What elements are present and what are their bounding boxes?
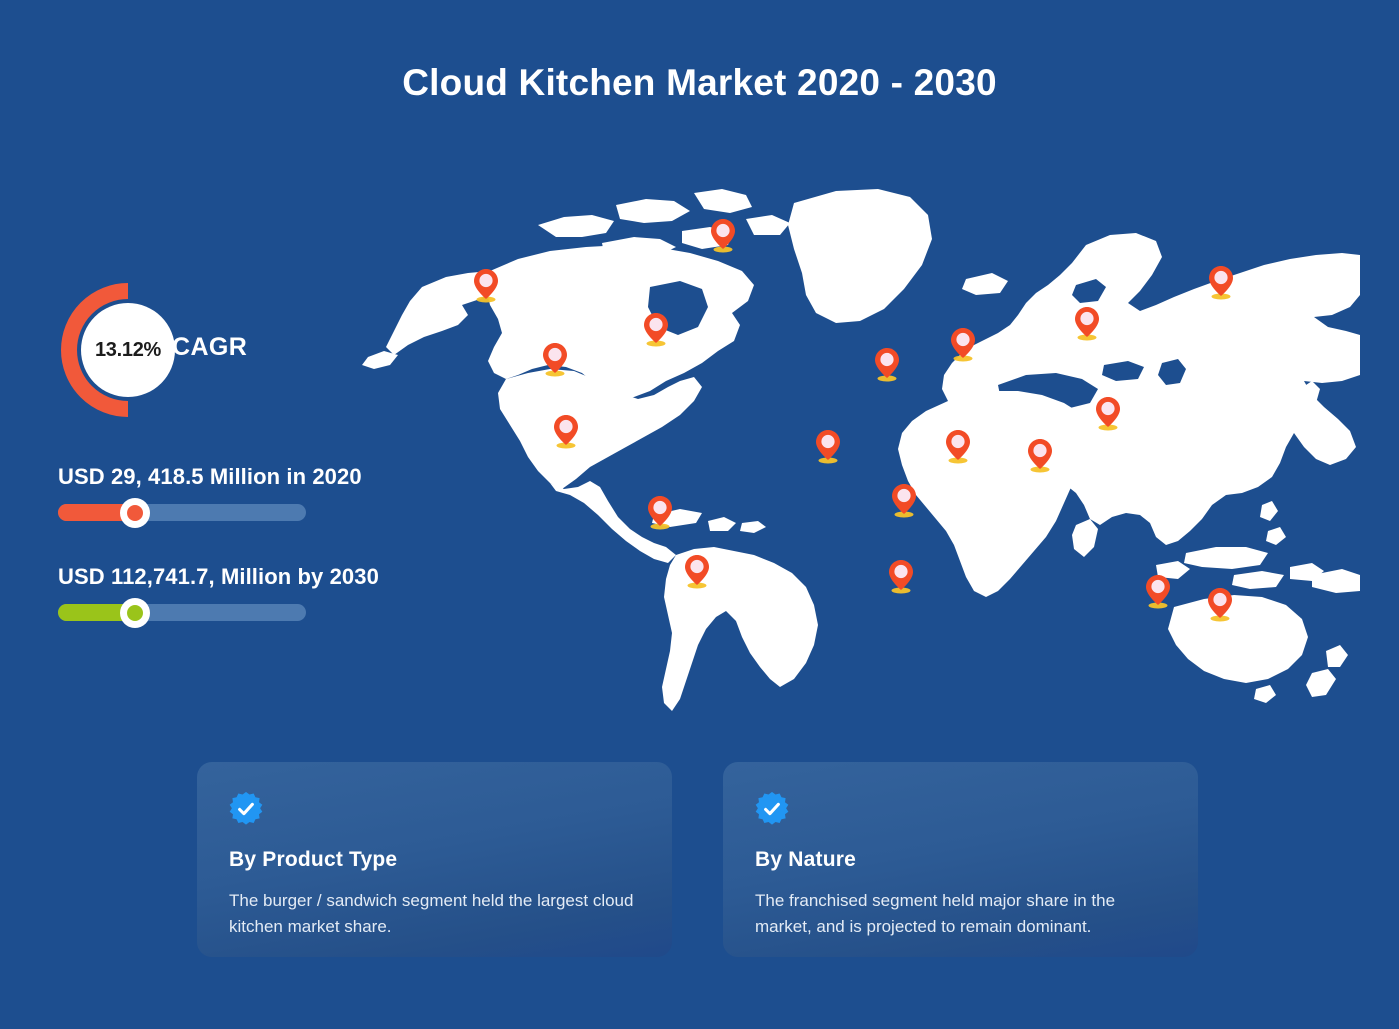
pin-greenland-icon[interactable] [708,217,738,253]
pin-alaska-icon[interactable] [471,267,501,303]
pin-brazil-south-icon[interactable] [682,553,712,589]
market-value-slider-2030[interactable] [58,604,306,621]
pin-central-africa-icon[interactable] [889,482,919,518]
pin-russia-central-icon[interactable] [1072,305,1102,341]
page-title: Cloud Kitchen Market 2020 - 2030 [0,62,1399,104]
card-description: The franchised segment held major share … [755,888,1170,941]
pin-europe-east-icon[interactable] [872,346,902,382]
slider-handle-dot-2020 [127,505,143,521]
pin-brazil-north-icon[interactable] [645,494,675,530]
slider-handle-dot-2030 [127,605,143,621]
pin-mexico-border-icon[interactable] [551,413,581,449]
world-map-landmass [350,175,1360,720]
card-by-nature[interactable]: By Nature The franchised segment held ma… [723,762,1198,957]
world-map [350,175,1360,720]
pin-eastern-canada-icon[interactable] [641,311,671,347]
pin-southern-africa-icon[interactable] [886,558,916,594]
pin-middle-east-icon[interactable] [943,428,973,464]
card-description: The burger / sandwich segment held the l… [229,888,644,941]
slider-handle-2020[interactable] [120,498,150,528]
pin-west-africa-icon[interactable] [813,428,843,464]
pin-india-icon[interactable] [1025,437,1055,473]
verified-badge-icon [229,792,263,826]
cagr-circle: 13.12% [81,303,175,397]
pin-north-africa-icon[interactable] [948,326,978,362]
infographic-root: Cloud Kitchen Market 2020 - 2030 13.12% … [0,0,1399,1029]
card-by-product-type[interactable]: By Product Type The burger / sandwich se… [197,762,672,957]
pin-siberia-east-icon[interactable] [1206,264,1236,300]
verified-badge-icon [755,792,789,826]
pin-china-icon[interactable] [1093,395,1123,431]
pin-western-usa-icon[interactable] [540,341,570,377]
slider-handle-2030[interactable] [120,598,150,628]
pin-east-australia-icon[interactable] [1205,586,1235,622]
card-title: By Nature [755,848,1168,872]
card-title: By Product Type [229,848,642,872]
cagr-label: CAGR [172,333,247,362]
pin-west-australia-icon[interactable] [1143,573,1173,609]
cagr-value: 13.12% [95,339,161,362]
cagr-block: 13.12% CAGR [52,283,352,417]
market-value-slider-2020[interactable] [58,504,306,521]
